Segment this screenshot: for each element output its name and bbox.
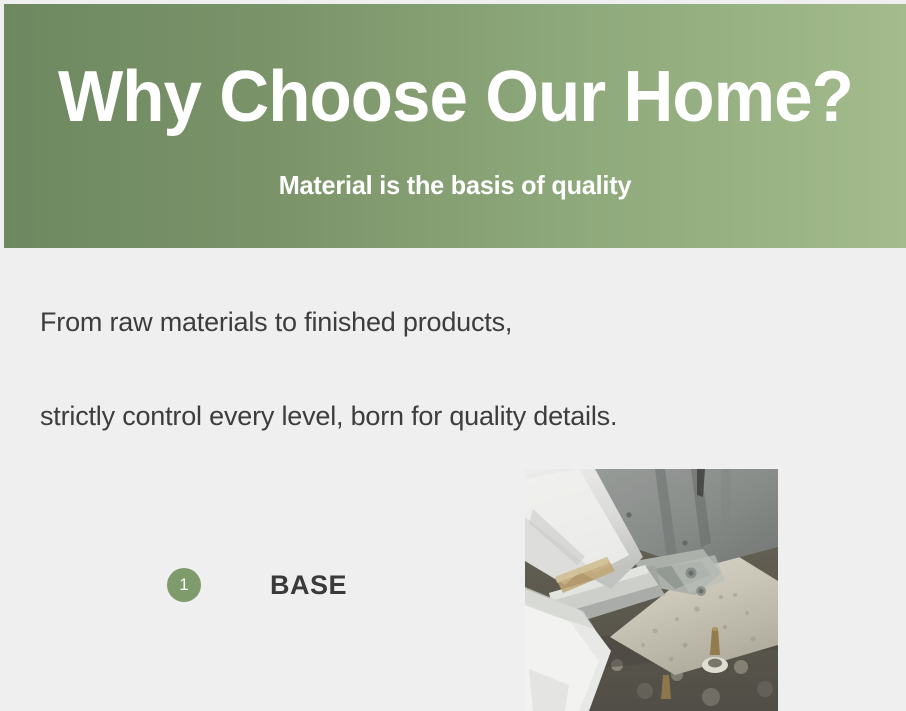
photo-base-bracket [525, 469, 778, 711]
list-item: 1 BASE [167, 568, 347, 602]
item-number-badge: 1 [167, 568, 201, 602]
page-subtitle: Material is the basis of quality [18, 170, 893, 201]
slide: Why Choose Our Home? Material is the bas… [0, 0, 906, 711]
page-title: Why Choose Our Home? [58, 60, 853, 136]
body-text-line-1: From raw materials to finished products, [40, 307, 512, 338]
item-label-base: BASE [270, 570, 347, 601]
photo-icon [525, 469, 778, 711]
header-banner: Why Choose Our Home? Material is the bas… [4, 4, 906, 248]
body-text-line-2: strictly control every level, born for q… [40, 401, 617, 432]
